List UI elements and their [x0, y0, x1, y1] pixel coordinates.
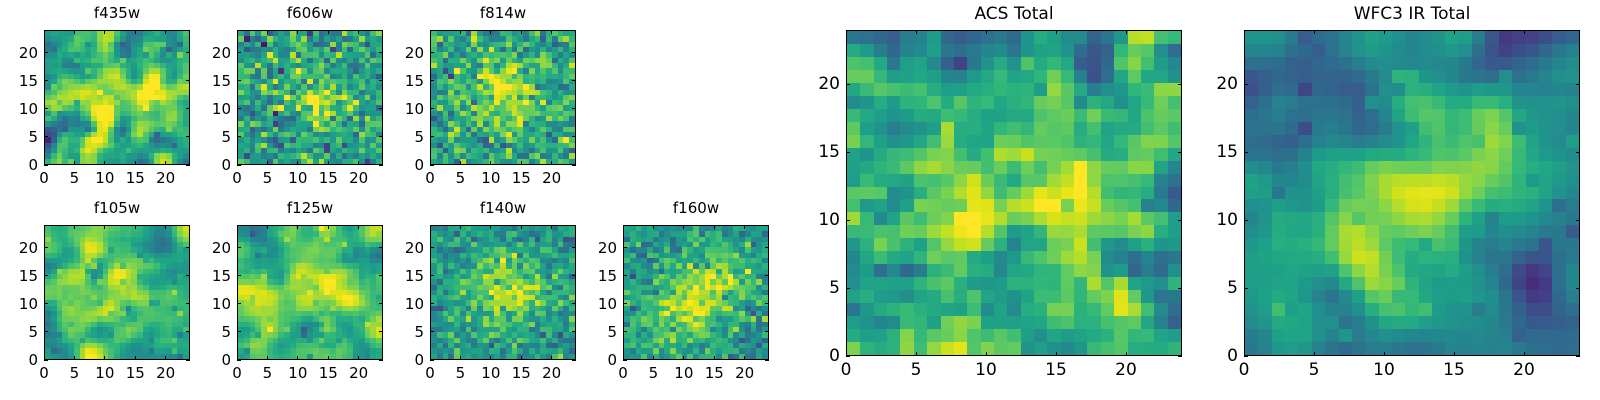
xtick-label: 0	[232, 169, 242, 187]
ytick-mark-right	[186, 360, 190, 361]
xtick-mark-top	[44, 225, 45, 229]
ytick-mark	[623, 331, 627, 332]
ytick-mark	[430, 331, 434, 332]
xtick-mark-top	[430, 30, 431, 34]
xtick-mark-top	[521, 30, 522, 34]
xtick-mark-top	[165, 225, 166, 229]
xtick-label: 15	[512, 169, 531, 187]
ytick-mark-right	[379, 108, 383, 109]
xtick-mark-top	[135, 30, 136, 34]
ytick-mark-right	[186, 165, 190, 166]
xtick-label: 5	[649, 364, 659, 382]
ytick-mark-right	[572, 331, 576, 332]
ytick-label: 10	[19, 100, 38, 118]
panel-title-f606w: f606w	[237, 4, 383, 22]
xtick-mark	[44, 161, 45, 165]
xtick-label: 15	[319, 364, 338, 382]
xtick-mark	[267, 161, 268, 165]
plot-area-f814w	[430, 30, 576, 165]
ytick-label: 5	[221, 128, 231, 146]
xtick-label: 10	[481, 169, 500, 187]
ytick-mark	[430, 247, 434, 248]
xtick-mark	[74, 161, 75, 165]
ytick-label: 15	[818, 142, 840, 162]
xtick-mark	[521, 356, 522, 360]
xtick-label: 0	[1239, 360, 1250, 380]
ytick-label: 5	[221, 323, 231, 341]
xtick-mark	[490, 161, 491, 165]
xtick-mark	[1384, 352, 1385, 356]
xtick-mark	[1454, 352, 1455, 356]
ytick-label: 5	[1227, 278, 1238, 298]
xtick-mark	[1056, 352, 1057, 356]
ytick-mark-right	[186, 303, 190, 304]
xtick-mark	[683, 356, 684, 360]
ytick-label: 5	[829, 278, 840, 298]
xtick-label: 10	[95, 364, 114, 382]
ytick-mark-right	[572, 303, 576, 304]
xtick-mark	[1314, 352, 1315, 356]
ytick-mark	[44, 80, 48, 81]
xtick-label: 5	[263, 169, 273, 187]
xtick-mark	[237, 161, 238, 165]
ytick-label: 5	[414, 128, 424, 146]
xtick-mark-top	[135, 225, 136, 229]
xtick-mark	[846, 352, 847, 356]
ytick-label: 15	[19, 267, 38, 285]
xtick-mark-top	[490, 225, 491, 229]
ytick-mark	[430, 80, 434, 81]
panel-f125w: f125w0510152005101520	[197, 199, 387, 386]
ytick-mark-right	[1178, 84, 1182, 85]
ytick-mark-right	[1576, 356, 1580, 357]
xtick-label: 5	[911, 360, 922, 380]
ytick-mark-right	[186, 108, 190, 109]
xtick-mark-top	[328, 30, 329, 34]
xtick-mark	[237, 356, 238, 360]
heatmap-f435w	[45, 31, 189, 164]
panel-f814w: f814w0510152005101520	[390, 4, 580, 191]
xtick-label: 5	[456, 364, 466, 382]
ytick-mark-right	[186, 136, 190, 137]
xtick-mark-top	[653, 225, 654, 229]
xtick-mark	[744, 356, 745, 360]
xtick-label: 20	[735, 364, 754, 382]
ytick-label: 0	[1227, 346, 1238, 366]
ytick-label: 0	[221, 156, 231, 174]
xtick-mark	[165, 356, 166, 360]
ytick-mark	[44, 108, 48, 109]
xtick-label: 10	[481, 364, 500, 382]
ytick-mark-right	[572, 108, 576, 109]
ytick-label: 15	[212, 72, 231, 90]
ytick-mark-right	[379, 52, 383, 53]
ytick-label: 10	[405, 100, 424, 118]
xtick-mark	[430, 161, 431, 165]
xtick-mark	[653, 356, 654, 360]
ytick-label: 10	[212, 295, 231, 313]
ytick-mark-right	[1178, 152, 1182, 153]
xtick-mark	[297, 161, 298, 165]
ytick-mark-right	[1178, 220, 1182, 221]
ytick-mark	[44, 303, 48, 304]
panel-f105w: f105w0510152005101520	[4, 199, 194, 386]
xtick-mark-top	[267, 225, 268, 229]
panel-acs_total: ACS Total0510152005101520	[806, 4, 1186, 382]
ytick-label: 10	[405, 295, 424, 313]
heatmap-f606w	[238, 31, 382, 164]
xtick-mark-top	[165, 30, 166, 34]
xtick-mark	[551, 356, 552, 360]
plot-area-f125w	[237, 225, 383, 360]
xtick-mark-top	[551, 30, 552, 34]
ytick-label: 15	[405, 267, 424, 285]
xtick-mark	[460, 161, 461, 165]
xtick-mark	[1244, 352, 1245, 356]
xtick-mark-top	[237, 225, 238, 229]
xtick-mark-top	[986, 30, 987, 34]
xtick-mark-top	[490, 30, 491, 34]
ytick-label: 20	[405, 239, 424, 257]
plot-area-wfc3_ir_total	[1244, 30, 1580, 356]
xtick-mark	[104, 161, 105, 165]
ytick-label: 20	[598, 239, 617, 257]
ytick-mark-right	[572, 136, 576, 137]
xtick-mark	[521, 161, 522, 165]
xtick-mark-top	[460, 30, 461, 34]
xtick-mark	[44, 356, 45, 360]
heatmap-acs_total	[847, 31, 1181, 355]
panel-title-f160w: f160w	[623, 199, 769, 217]
xtick-mark-top	[430, 225, 431, 229]
ytick-mark-right	[765, 331, 769, 332]
xtick-mark	[1126, 352, 1127, 356]
xtick-mark	[74, 356, 75, 360]
xtick-mark	[551, 161, 552, 165]
xtick-label: 0	[425, 169, 435, 187]
xtick-label: 5	[263, 364, 273, 382]
ytick-mark	[1244, 356, 1248, 357]
xtick-label: 10	[1373, 360, 1395, 380]
ytick-mark	[44, 136, 48, 137]
ytick-label: 0	[607, 351, 617, 369]
ytick-label: 0	[28, 156, 38, 174]
xtick-mark-top	[297, 225, 298, 229]
xtick-label: 10	[975, 360, 997, 380]
ytick-mark	[623, 360, 627, 361]
ytick-mark	[1244, 152, 1248, 153]
ytick-label: 0	[829, 346, 840, 366]
panel-f435w: f435w0510152005101520	[4, 4, 194, 191]
ytick-mark	[430, 52, 434, 53]
xtick-mark-top	[1314, 30, 1315, 34]
ytick-mark-right	[379, 360, 383, 361]
xtick-mark-top	[1454, 30, 1455, 34]
ytick-mark	[237, 108, 241, 109]
heatmap-f125w	[238, 226, 382, 359]
ytick-mark	[846, 356, 850, 357]
ytick-mark-right	[765, 275, 769, 276]
ytick-label: 20	[212, 44, 231, 62]
ytick-mark-right	[572, 80, 576, 81]
ytick-mark-right	[572, 275, 576, 276]
plot-area-acs_total	[846, 30, 1182, 356]
xtick-label: 20	[349, 364, 368, 382]
ytick-mark	[623, 247, 627, 248]
xtick-label: 20	[1115, 360, 1137, 380]
xtick-mark-top	[683, 225, 684, 229]
ytick-mark	[846, 220, 850, 221]
ytick-label: 15	[598, 267, 617, 285]
xtick-mark-top	[623, 225, 624, 229]
xtick-mark	[328, 161, 329, 165]
xtick-mark	[460, 356, 461, 360]
ytick-mark	[623, 303, 627, 304]
panel-f140w: f140w0510152005101520	[390, 199, 580, 386]
ytick-mark-right	[765, 247, 769, 248]
xtick-mark	[267, 356, 268, 360]
ytick-label: 15	[405, 72, 424, 90]
xtick-label: 15	[126, 169, 145, 187]
xtick-label: 15	[512, 364, 531, 382]
xtick-mark-top	[521, 225, 522, 229]
ytick-label: 10	[212, 100, 231, 118]
ytick-mark-right	[1576, 152, 1580, 153]
ytick-mark	[430, 108, 434, 109]
ytick-mark-right	[379, 247, 383, 248]
ytick-mark	[430, 165, 434, 166]
panel-title-f435w: f435w	[44, 4, 190, 22]
xtick-mark-top	[74, 225, 75, 229]
ytick-label: 20	[19, 239, 38, 257]
heatmap-wfc3_ir_total	[1245, 31, 1579, 355]
ytick-mark	[237, 80, 241, 81]
xtick-label: 20	[542, 169, 561, 187]
plot-area-f140w	[430, 225, 576, 360]
ytick-mark-right	[1576, 220, 1580, 221]
xtick-mark-top	[74, 30, 75, 34]
ytick-label: 10	[598, 295, 617, 313]
xtick-mark-top	[44, 30, 45, 34]
plot-area-f105w	[44, 225, 190, 360]
xtick-mark	[623, 356, 624, 360]
xtick-mark-top	[328, 225, 329, 229]
ytick-mark	[44, 247, 48, 248]
xtick-mark-top	[267, 30, 268, 34]
ytick-label: 0	[28, 351, 38, 369]
ytick-mark	[237, 331, 241, 332]
ytick-label: 0	[221, 351, 231, 369]
ytick-mark-right	[186, 275, 190, 276]
ytick-mark-right	[379, 275, 383, 276]
xtick-mark	[986, 352, 987, 356]
ytick-mark-right	[379, 136, 383, 137]
xtick-label: 10	[674, 364, 693, 382]
ytick-label: 5	[28, 323, 38, 341]
ytick-label: 5	[607, 323, 617, 341]
panel-title-f125w: f125w	[237, 199, 383, 217]
ytick-mark-right	[379, 80, 383, 81]
xtick-mark-top	[744, 225, 745, 229]
ytick-mark	[1244, 288, 1248, 289]
xtick-label: 0	[232, 364, 242, 382]
ytick-label: 20	[19, 44, 38, 62]
ytick-mark	[846, 152, 850, 153]
ytick-mark-right	[572, 247, 576, 248]
ytick-label: 20	[212, 239, 231, 257]
heatmap-f160w	[624, 226, 768, 359]
ytick-mark	[430, 275, 434, 276]
panel-title-wfc3_ir_total: WFC3 IR Total	[1244, 4, 1580, 24]
xtick-mark-top	[297, 30, 298, 34]
xtick-label: 15	[705, 364, 724, 382]
xtick-mark	[328, 356, 329, 360]
xtick-mark	[358, 161, 359, 165]
ytick-label: 15	[1216, 142, 1238, 162]
xtick-label: 0	[841, 360, 852, 380]
xtick-label: 5	[70, 364, 80, 382]
xtick-label: 10	[288, 169, 307, 187]
xtick-mark-top	[358, 30, 359, 34]
xtick-label: 20	[542, 364, 561, 382]
xtick-label: 10	[288, 364, 307, 382]
ytick-label: 10	[1216, 210, 1238, 230]
ytick-mark	[237, 303, 241, 304]
ytick-mark	[237, 360, 241, 361]
xtick-label: 5	[456, 169, 466, 187]
ytick-mark	[237, 52, 241, 53]
xtick-mark	[430, 356, 431, 360]
xtick-mark	[490, 356, 491, 360]
xtick-label: 15	[319, 169, 338, 187]
ytick-mark-right	[186, 331, 190, 332]
plot-area-f435w	[44, 30, 190, 165]
xtick-mark-top	[1126, 30, 1127, 34]
ytick-mark-right	[572, 52, 576, 53]
plot-area-f606w	[237, 30, 383, 165]
xtick-mark-top	[1524, 30, 1525, 34]
ytick-mark-right	[1576, 84, 1580, 85]
xtick-label: 0	[618, 364, 628, 382]
ytick-mark	[623, 275, 627, 276]
ytick-mark-right	[1178, 288, 1182, 289]
ytick-mark	[44, 331, 48, 332]
ytick-mark	[430, 136, 434, 137]
ytick-label: 20	[818, 74, 840, 94]
xtick-mark	[1524, 352, 1525, 356]
ytick-mark	[430, 303, 434, 304]
xtick-label: 20	[156, 364, 175, 382]
xtick-label: 0	[39, 169, 49, 187]
xtick-mark-top	[1244, 30, 1245, 34]
xtick-label: 5	[1309, 360, 1320, 380]
xtick-mark-top	[460, 225, 461, 229]
xtick-mark	[104, 356, 105, 360]
xtick-mark	[135, 161, 136, 165]
ytick-mark-right	[379, 165, 383, 166]
ytick-label: 15	[19, 72, 38, 90]
xtick-mark-top	[104, 30, 105, 34]
ytick-label: 0	[414, 351, 424, 369]
ytick-mark-right	[379, 303, 383, 304]
xtick-label: 0	[425, 364, 435, 382]
ytick-label: 15	[212, 267, 231, 285]
ytick-mark	[1244, 220, 1248, 221]
xtick-label: 20	[1513, 360, 1535, 380]
ytick-label: 10	[818, 210, 840, 230]
xtick-mark	[297, 356, 298, 360]
ytick-mark-right	[572, 165, 576, 166]
ytick-mark-right	[186, 247, 190, 248]
ytick-mark-right	[1178, 356, 1182, 357]
ytick-mark	[237, 136, 241, 137]
ytick-mark	[44, 275, 48, 276]
panel-f160w: f160w0510152005101520	[583, 199, 773, 386]
ytick-mark	[237, 275, 241, 276]
xtick-label: 15	[126, 364, 145, 382]
panel-title-f105w: f105w	[44, 199, 190, 217]
xtick-mark-top	[358, 225, 359, 229]
ytick-mark-right	[379, 331, 383, 332]
ytick-mark	[237, 165, 241, 166]
ytick-label: 5	[28, 128, 38, 146]
heatmap-f814w	[431, 31, 575, 164]
ytick-mark	[1244, 84, 1248, 85]
xtick-mark	[916, 352, 917, 356]
xtick-mark-top	[916, 30, 917, 34]
xtick-mark-top	[714, 225, 715, 229]
xtick-mark-top	[846, 30, 847, 34]
xtick-label: 20	[349, 169, 368, 187]
panel-title-f814w: f814w	[430, 4, 576, 22]
ytick-mark	[44, 165, 48, 166]
ytick-mark	[44, 360, 48, 361]
heatmap-f140w	[431, 226, 575, 359]
ytick-label: 20	[1216, 74, 1238, 94]
xtick-label: 15	[1443, 360, 1465, 380]
ytick-mark-right	[1576, 288, 1580, 289]
ytick-label: 20	[405, 44, 424, 62]
xtick-mark	[358, 356, 359, 360]
plot-area-f160w	[623, 225, 769, 360]
ytick-mark	[846, 288, 850, 289]
xtick-mark	[714, 356, 715, 360]
xtick-label: 15	[1045, 360, 1067, 380]
xtick-label: 0	[39, 364, 49, 382]
panel-f606w: f606w0510152005101520	[197, 4, 387, 191]
xtick-mark-top	[104, 225, 105, 229]
xtick-mark	[165, 161, 166, 165]
ytick-mark-right	[765, 303, 769, 304]
xtick-mark-top	[237, 30, 238, 34]
panel-title-acs_total: ACS Total	[846, 4, 1182, 24]
ytick-mark-right	[765, 360, 769, 361]
xtick-mark-top	[1056, 30, 1057, 34]
xtick-label: 10	[95, 169, 114, 187]
ytick-mark	[44, 52, 48, 53]
xtick-label: 5	[70, 169, 80, 187]
ytick-mark	[430, 360, 434, 361]
ytick-label: 0	[414, 156, 424, 174]
panel-wfc3_ir_total: WFC3 IR Total0510152005101520	[1204, 4, 1584, 382]
xtick-mark-top	[551, 225, 552, 229]
ytick-label: 10	[19, 295, 38, 313]
ytick-mark	[237, 247, 241, 248]
ytick-label: 5	[414, 323, 424, 341]
ytick-mark-right	[186, 80, 190, 81]
heatmap-f105w	[45, 226, 189, 359]
ytick-mark-right	[186, 52, 190, 53]
